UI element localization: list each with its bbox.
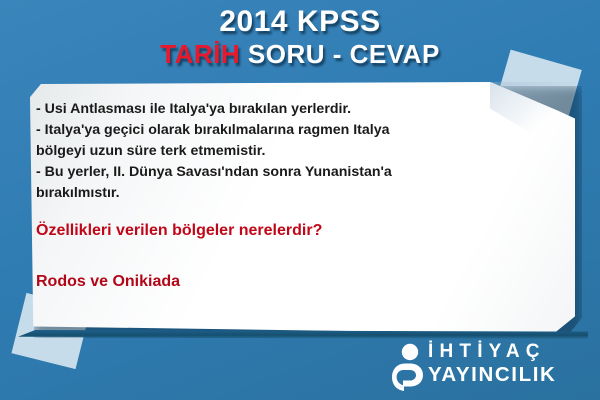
question-text: Özellikleri verilen bölgeler nerelerdir? xyxy=(36,221,506,242)
brand-logo-text: İHTİYAÇ YAYINCILIK xyxy=(428,340,556,386)
card-body: - Usi Antlasması ile Italya'ya bırakılan… xyxy=(36,100,506,293)
poster-root: 2014 KPSS TARİH SORU - CEVAP - Usi Antla… xyxy=(0,0,600,400)
list-item: - Usi Antlasması ile Italya'ya bırakılan… xyxy=(36,100,506,120)
trademark-mark: TM xyxy=(397,384,403,389)
statement-list: - Usi Antlasması ile Italya'ya bırakılan… xyxy=(36,100,506,203)
page-title-line-1: 2014 KPSS xyxy=(0,0,600,38)
answer-text: Rodos ve Onikiada xyxy=(36,272,506,293)
brand-name-line-2: YAYINCILIK xyxy=(428,364,556,387)
list-item: - Italya'ya geçici olarak bırakılmaların… xyxy=(36,121,506,141)
page-title-line-2-rest: SORU - CEVAP xyxy=(240,39,440,69)
page-title-line-2: TARİH SORU - CEVAP xyxy=(0,38,600,68)
list-item: - Bu yerler, II. Dünya Savası'ndan sonra… xyxy=(36,163,506,183)
page-title-accent: TARİH xyxy=(160,39,240,69)
brand-logo: TM İHTİYAÇ YAYINCILIK xyxy=(392,340,588,394)
brand-name-line-1: İHTİYAÇ xyxy=(428,340,556,364)
list-item: bırakılmıstır. xyxy=(36,184,506,204)
list-item: bölgeyi uzun süre terk etmemistir. xyxy=(36,142,506,162)
header: 2014 KPSS TARİH SORU - CEVAP xyxy=(0,0,600,80)
